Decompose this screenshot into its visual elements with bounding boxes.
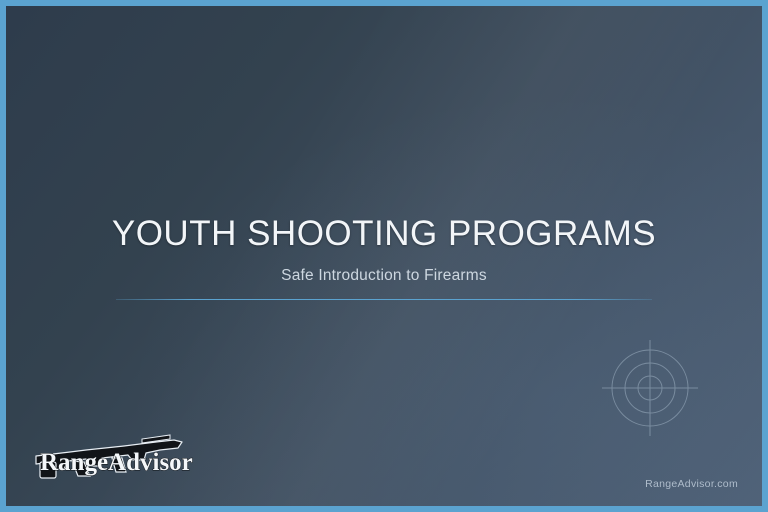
page-subtitle: Safe Introduction to Firearms: [6, 266, 762, 286]
title-slide: YOUTH SHOOTING PROGRAMS Safe Introductio…: [0, 0, 768, 512]
crosshair-target-icon: [602, 340, 698, 436]
title-block: YOUTH SHOOTING PROGRAMS Safe Introductio…: [6, 213, 762, 300]
logo-brand-text: RangeAdvisor: [40, 449, 193, 476]
page-title: YOUTH SHOOTING PROGRAMS: [6, 213, 762, 255]
title-divider: [116, 299, 652, 300]
footer-url: RangeAdvisor.com: [645, 478, 738, 490]
brand-logo: RangeAdvisor: [28, 422, 204, 484]
